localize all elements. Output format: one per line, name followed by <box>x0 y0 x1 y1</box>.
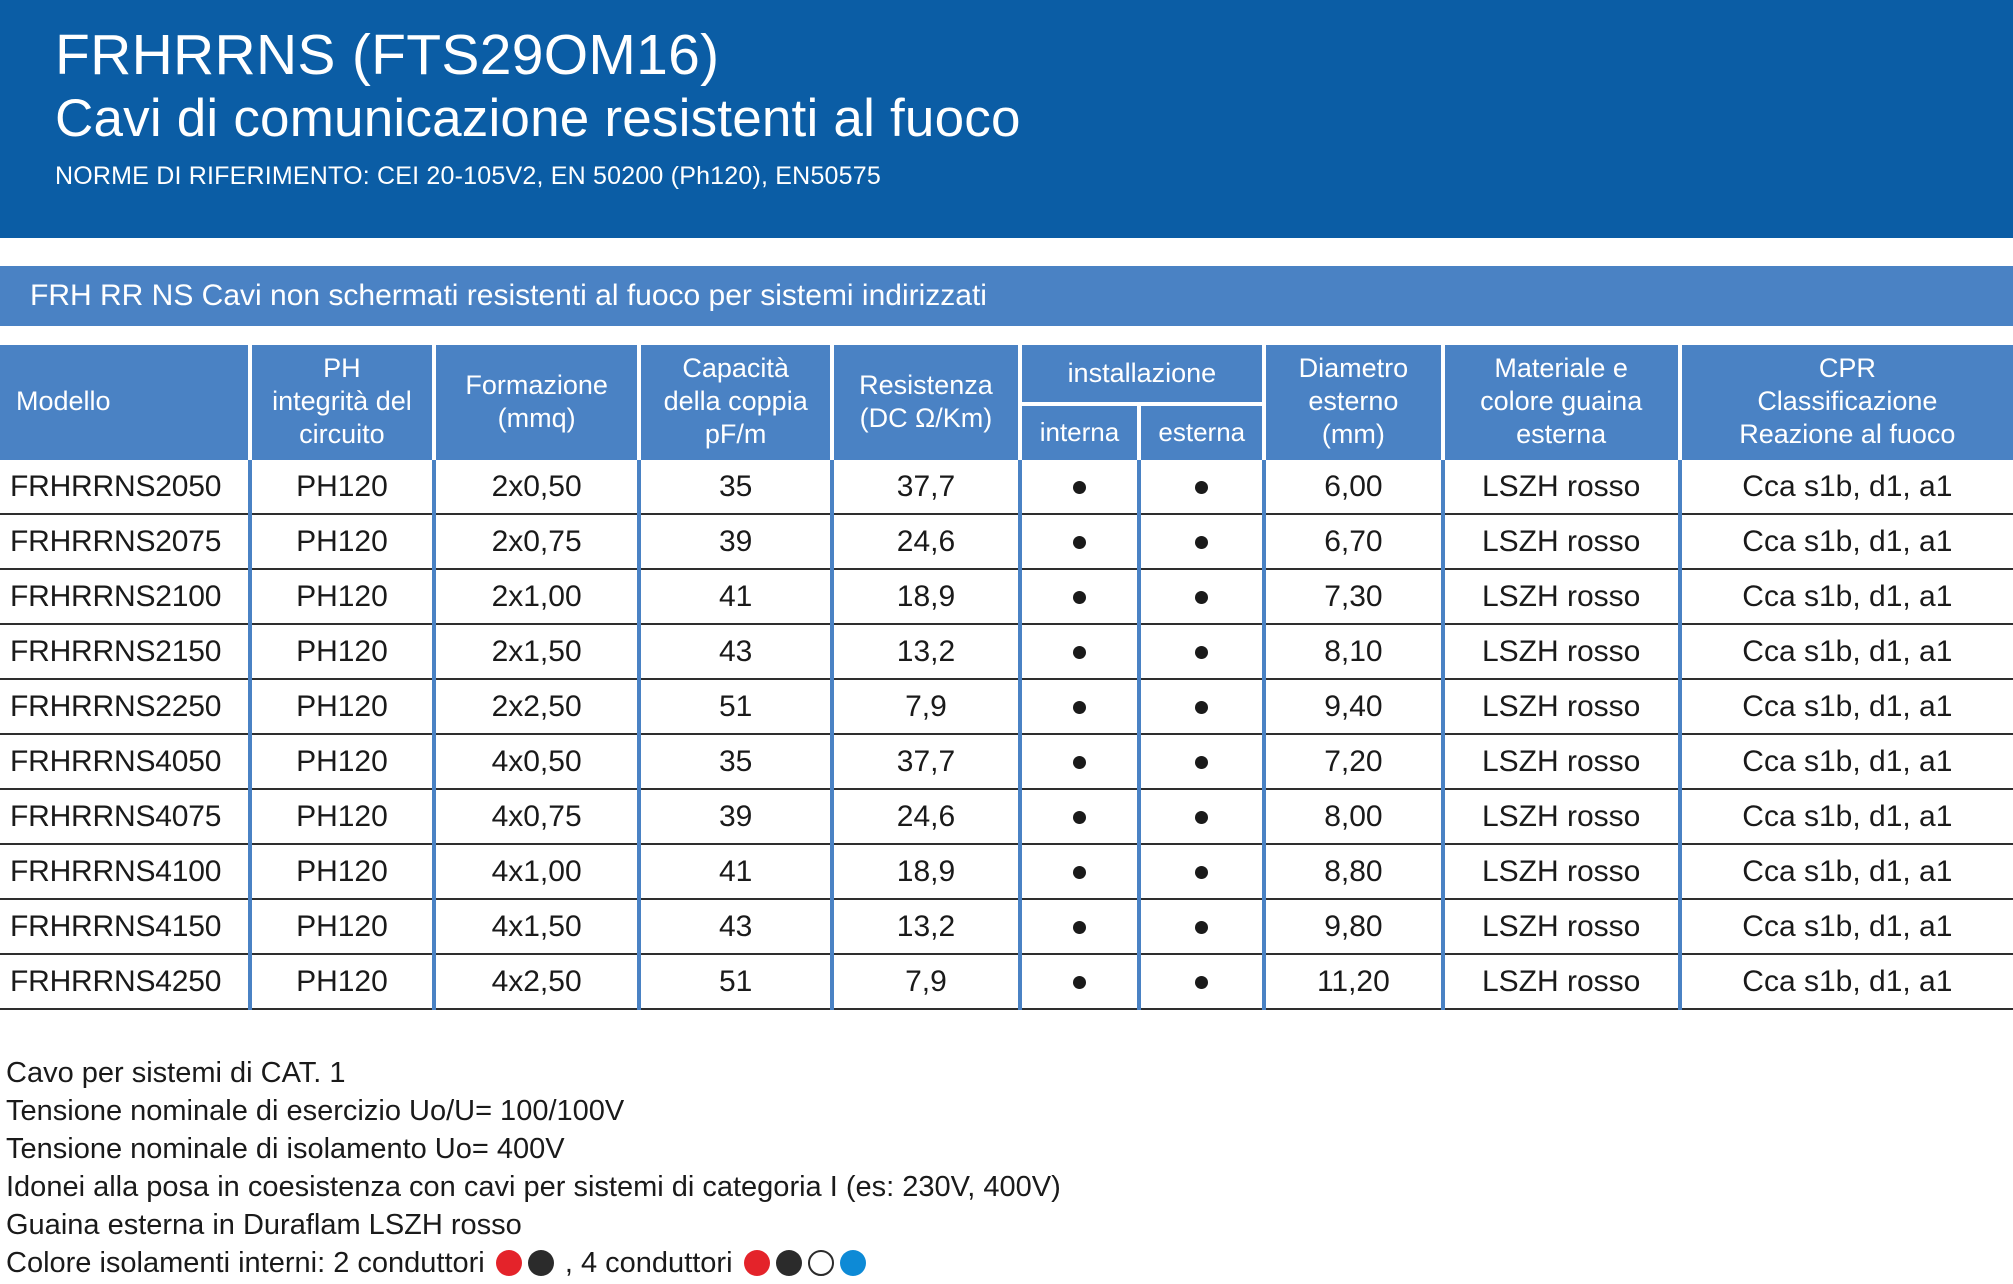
table-row: FRHRRNS2150PH1202x1,504313,28,10LSZH ros… <box>0 624 2013 679</box>
conductor-color-dot-icon <box>808 1250 834 1276</box>
col-header-materiale-line1: Materiale e <box>1449 352 1674 385</box>
cell-materiale: LSZH rosso <box>1443 569 1680 624</box>
cell-modello: FRHRRNS2100 <box>0 569 250 624</box>
installation-dot-icon <box>1073 646 1086 659</box>
page-header: FRHRRNS (FTS29OM16) Cavi di comunicazion… <box>0 0 2013 238</box>
installation-dot-icon <box>1073 976 1086 989</box>
cell-cpr: Cca s1b, d1, a1 <box>1680 460 2013 514</box>
cell-materiale: LSZH rosso <box>1443 844 1680 899</box>
cell-materiale: LSZH rosso <box>1443 734 1680 789</box>
cell-ph: PH120 <box>250 679 435 734</box>
cell-diametro: 6,70 <box>1264 514 1442 569</box>
table-row: FRHRRNS4250PH1204x2,50517,911,20LSZH ros… <box>0 954 2013 1009</box>
reference-standards: NORME DI RIFERIMENTO: CEI 20-105V2, EN 5… <box>55 160 2013 192</box>
installation-dot-icon <box>1073 756 1086 769</box>
installation-dot-icon <box>1195 811 1208 824</box>
table-body: FRHRRNS2050PH1202x0,503537,76,00LSZH ros… <box>0 460 2013 1009</box>
cell-formazione: 4x1,50 <box>434 899 639 954</box>
table-row: FRHRRNS4050PH1204x0,503537,77,20LSZH ros… <box>0 734 2013 789</box>
cell-formazione: 4x2,50 <box>434 954 639 1009</box>
note-line-1: Cavo per sistemi di CAT. 1 <box>6 1054 2006 1092</box>
conductor-color-swatches-4 <box>741 1247 869 1279</box>
note-line-3: Tensione nominale di isolamento Uo= 400V <box>6 1130 2006 1168</box>
cell-cpr: Cca s1b, d1, a1 <box>1680 789 2013 844</box>
table-row: FRHRRNS4150PH1204x1,504313,29,80LSZH ros… <box>0 899 2013 954</box>
cell-formazione: 2x1,50 <box>434 624 639 679</box>
cell-materiale: LSZH rosso <box>1443 789 1680 844</box>
cell-cpr: Cca s1b, d1, a1 <box>1680 899 2013 954</box>
cell-ph: PH120 <box>250 569 435 624</box>
col-header-installazione-interna: interna <box>1020 404 1140 460</box>
cell-diametro: 8,80 <box>1264 844 1442 899</box>
cell-resistenza: 24,6 <box>832 514 1019 569</box>
col-header-diametro-line3: (mm) <box>1270 418 1436 451</box>
conductor-color-dot-icon <box>776 1250 802 1276</box>
section-bar-label: FRH RR NS Cavi non schermati resistenti … <box>30 279 987 313</box>
table-header: Modello PH integrità del circuito Formaz… <box>0 345 2013 460</box>
installation-dot-icon <box>1195 921 1208 934</box>
cell-ph: PH120 <box>250 624 435 679</box>
cell-diametro: 7,20 <box>1264 734 1442 789</box>
col-header-cpr-line1: CPR <box>1686 352 2009 385</box>
product-name-title: Cavi di comunicazione resistenti al fuoc… <box>55 88 2013 150</box>
conductor-colors-middle: , 4 conduttori <box>565 1247 733 1279</box>
conductor-color-dot-icon <box>840 1250 866 1276</box>
cell-cpr: Cca s1b, d1, a1 <box>1680 844 2013 899</box>
datasheet-page: FRHRRNS (FTS29OM16) Cavi di comunicazion… <box>0 0 2013 1284</box>
cell-esterna <box>1139 624 1264 679</box>
cell-materiale: LSZH rosso <box>1443 679 1680 734</box>
cell-formazione: 2x0,50 <box>434 460 639 514</box>
cell-ph: PH120 <box>250 460 435 514</box>
installation-dot-icon <box>1195 756 1208 769</box>
conductor-color-dot-icon <box>744 1250 770 1276</box>
cell-formazione: 2x1,00 <box>434 569 639 624</box>
cell-diametro: 8,00 <box>1264 789 1442 844</box>
col-header-cpr: CPR Classificazione Reazione al fuoco <box>1680 345 2013 460</box>
table-row: FRHRRNS4075PH1204x0,753924,68,00LSZH ros… <box>0 789 2013 844</box>
notes-block: Cavo per sistemi di CAT. 1 Tensione nomi… <box>6 1054 2006 1282</box>
col-header-resistenza-line2: (DC Ω/Km) <box>838 402 1013 435</box>
note-line-6-conductor-colors: Colore isolamenti interni: 2 conduttori … <box>6 1244 2006 1282</box>
cell-ph: PH120 <box>250 514 435 569</box>
col-header-ph: PH integrità del circuito <box>250 345 435 460</box>
cell-capacita: 39 <box>639 514 832 569</box>
col-header-formazione-line1: Formazione <box>440 369 633 402</box>
conductor-color-dot-icon <box>528 1250 554 1276</box>
cell-resistenza: 7,9 <box>832 954 1019 1009</box>
cell-interna <box>1020 734 1140 789</box>
note-line-2: Tensione nominale di esercizio Uo/U= 100… <box>6 1092 2006 1130</box>
col-header-cpr-line3: Reazione al fuoco <box>1686 418 2009 451</box>
cell-formazione: 2x2,50 <box>434 679 639 734</box>
conductor-color-dot-icon <box>496 1250 522 1276</box>
cell-interna <box>1020 569 1140 624</box>
cell-capacita: 41 <box>639 569 832 624</box>
cell-cpr: Cca s1b, d1, a1 <box>1680 624 2013 679</box>
col-header-modello: Modello <box>0 345 250 460</box>
installation-dot-icon <box>1195 866 1208 879</box>
cell-cpr: Cca s1b, d1, a1 <box>1680 514 2013 569</box>
col-header-capacita: Capacità della coppia pF/m <box>639 345 832 460</box>
note-line-5: Guaina esterna in Duraflam LSZH rosso <box>6 1206 2006 1244</box>
table-header-row: Modello PH integrità del circuito Formaz… <box>0 345 2013 404</box>
cell-modello: FRHRRNS4050 <box>0 734 250 789</box>
cell-formazione: 4x0,75 <box>434 789 639 844</box>
cell-capacita: 35 <box>639 460 832 514</box>
table-row: FRHRRNS2250PH1202x2,50517,99,40LSZH ross… <box>0 679 2013 734</box>
col-header-formazione-line2: (mmq) <box>440 402 633 435</box>
installation-dot-icon <box>1073 701 1086 714</box>
cell-diametro: 7,30 <box>1264 569 1442 624</box>
cell-resistenza: 37,7 <box>832 460 1019 514</box>
cell-cpr: Cca s1b, d1, a1 <box>1680 954 2013 1009</box>
cell-esterna <box>1139 569 1264 624</box>
col-header-resistenza: Resistenza (DC Ω/Km) <box>832 345 1019 460</box>
cell-materiale: LSZH rosso <box>1443 624 1680 679</box>
cell-esterna <box>1139 844 1264 899</box>
installation-dot-icon <box>1195 701 1208 714</box>
cell-cpr: Cca s1b, d1, a1 <box>1680 569 2013 624</box>
cell-resistenza: 13,2 <box>832 899 1019 954</box>
col-header-diametro-line2: esterno <box>1270 385 1436 418</box>
cell-capacita: 51 <box>639 679 832 734</box>
cell-ph: PH120 <box>250 789 435 844</box>
col-header-materiale-line3: esterna <box>1449 418 1674 451</box>
cell-interna <box>1020 679 1140 734</box>
installation-dot-icon <box>1073 591 1086 604</box>
cell-resistenza: 37,7 <box>832 734 1019 789</box>
col-header-materiale-line2: colore guaina <box>1449 385 1674 418</box>
cell-diametro: 8,10 <box>1264 624 1442 679</box>
specifications-table: Modello PH integrità del circuito Formaz… <box>0 345 2013 1010</box>
cell-esterna <box>1139 789 1264 844</box>
cell-esterna <box>1139 460 1264 514</box>
cell-diametro: 6,00 <box>1264 460 1442 514</box>
cell-esterna <box>1139 734 1264 789</box>
cell-resistenza: 18,9 <box>832 844 1019 899</box>
cell-materiale: LSZH rosso <box>1443 954 1680 1009</box>
cell-esterna <box>1139 514 1264 569</box>
cell-capacita: 39 <box>639 789 832 844</box>
cell-modello: FRHRRNS2150 <box>0 624 250 679</box>
cell-diametro: 9,40 <box>1264 679 1442 734</box>
cell-ph: PH120 <box>250 954 435 1009</box>
cell-capacita: 43 <box>639 624 832 679</box>
col-header-formazione: Formazione (mmq) <box>434 345 639 460</box>
col-header-installazione-esterna: esterna <box>1139 404 1264 460</box>
cell-modello: FRHRRNS2050 <box>0 460 250 514</box>
cell-diametro: 11,20 <box>1264 954 1442 1009</box>
col-header-diametro: Diametro esterno (mm) <box>1264 345 1442 460</box>
col-header-ph-line3: circuito <box>256 418 429 451</box>
installation-dot-icon <box>1073 536 1086 549</box>
col-header-diametro-line1: Diametro <box>1270 352 1436 385</box>
installation-dot-icon <box>1073 866 1086 879</box>
table-row: FRHRRNS2075PH1202x0,753924,66,70LSZH ros… <box>0 514 2013 569</box>
installation-dot-icon <box>1195 646 1208 659</box>
installation-dot-icon <box>1195 536 1208 549</box>
cell-materiale: LSZH rosso <box>1443 899 1680 954</box>
installation-dot-icon <box>1073 481 1086 494</box>
cell-modello: FRHRRNS4250 <box>0 954 250 1009</box>
cell-modello: FRHRRNS4100 <box>0 844 250 899</box>
table-row: FRHRRNS2050PH1202x0,503537,76,00LSZH ros… <box>0 460 2013 514</box>
cell-capacita: 51 <box>639 954 832 1009</box>
col-header-cpr-line2: Classificazione <box>1686 385 2009 418</box>
cell-modello: FRHRRNS4075 <box>0 789 250 844</box>
section-bar: FRH RR NS Cavi non schermati resistenti … <box>0 266 2013 326</box>
cell-materiale: LSZH rosso <box>1443 460 1680 514</box>
cell-resistenza: 7,9 <box>832 679 1019 734</box>
col-header-ph-line1: PH <box>256 352 429 385</box>
cell-modello: FRHRRNS2075 <box>0 514 250 569</box>
table-row: FRHRRNS2100PH1202x1,004118,97,30LSZH ros… <box>0 569 2013 624</box>
cell-diametro: 9,80 <box>1264 899 1442 954</box>
cell-formazione: 4x0,50 <box>434 734 639 789</box>
cell-interna <box>1020 899 1140 954</box>
cell-esterna <box>1139 679 1264 734</box>
cell-interna <box>1020 844 1140 899</box>
cell-materiale: LSZH rosso <box>1443 514 1680 569</box>
product-code-title: FRHRRNS (FTS29OM16) <box>55 22 2013 88</box>
cell-resistenza: 18,9 <box>832 569 1019 624</box>
cell-modello: FRHRRNS4150 <box>0 899 250 954</box>
col-header-materiale: Materiale e colore guaina esterna <box>1443 345 1680 460</box>
col-header-capacita-line2: della coppia <box>645 385 826 418</box>
cell-resistenza: 13,2 <box>832 624 1019 679</box>
col-header-ph-line2: integrità del <box>256 385 429 418</box>
col-header-installazione: installazione <box>1020 345 1265 404</box>
cell-capacita: 43 <box>639 899 832 954</box>
cell-ph: PH120 <box>250 734 435 789</box>
conductor-colors-prefix: Colore isolamenti interni: 2 conduttori <box>6 1247 485 1279</box>
cell-cpr: Cca s1b, d1, a1 <box>1680 679 2013 734</box>
cell-esterna <box>1139 954 1264 1009</box>
cell-interna <box>1020 460 1140 514</box>
cell-capacita: 35 <box>639 734 832 789</box>
cell-formazione: 4x1,00 <box>434 844 639 899</box>
cell-interna <box>1020 954 1140 1009</box>
installation-dot-icon <box>1195 481 1208 494</box>
cell-resistenza: 24,6 <box>832 789 1019 844</box>
installation-dot-icon <box>1073 921 1086 934</box>
cell-modello: FRHRRNS2250 <box>0 679 250 734</box>
note-line-4: Idonei alla posa in coesistenza con cavi… <box>6 1168 2006 1206</box>
col-header-capacita-line3: pF/m <box>645 418 826 451</box>
table-row: FRHRRNS4100PH1204x1,004118,98,80LSZH ros… <box>0 844 2013 899</box>
cell-ph: PH120 <box>250 899 435 954</box>
cell-interna <box>1020 789 1140 844</box>
cell-ph: PH120 <box>250 844 435 899</box>
cell-cpr: Cca s1b, d1, a1 <box>1680 734 2013 789</box>
installation-dot-icon <box>1195 976 1208 989</box>
col-header-resistenza-line1: Resistenza <box>838 369 1013 402</box>
cell-esterna <box>1139 899 1264 954</box>
cell-interna <box>1020 514 1140 569</box>
cell-interna <box>1020 624 1140 679</box>
col-header-capacita-line1: Capacità <box>645 352 826 385</box>
installation-dot-icon <box>1073 811 1086 824</box>
installation-dot-icon <box>1195 591 1208 604</box>
conductor-color-swatches-2 <box>493 1247 557 1279</box>
cell-formazione: 2x0,75 <box>434 514 639 569</box>
cell-capacita: 41 <box>639 844 832 899</box>
